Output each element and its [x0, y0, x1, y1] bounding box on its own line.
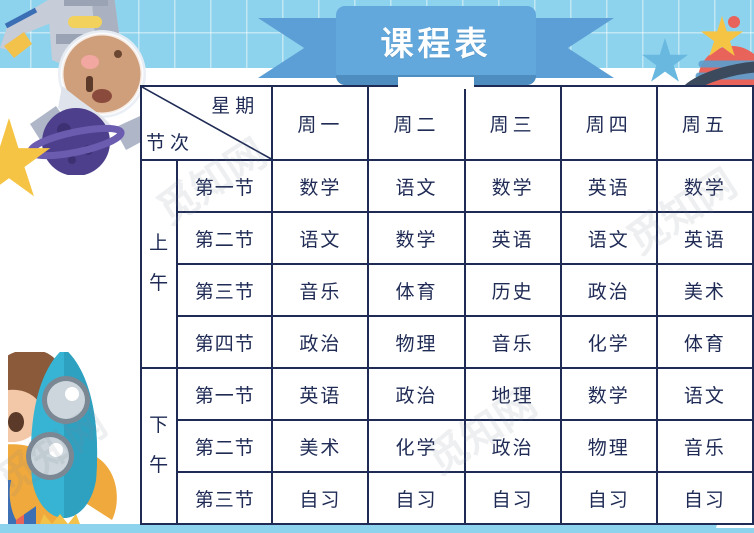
subject-cell[interactable]: 化学 [561, 316, 657, 368]
red-dot-icon [728, 16, 740, 28]
subject-cell[interactable]: 语文 [657, 368, 753, 420]
subject-cell[interactable]: 英语 [657, 212, 753, 264]
subject-cell[interactable]: 语文 [561, 212, 657, 264]
subject-cell[interactable]: 音乐 [272, 264, 368, 316]
period-label: 第四节 [177, 316, 272, 368]
day-header-1: 周一 [272, 86, 368, 160]
page-title: 课程表 [336, 6, 536, 76]
subject-cell[interactable]: 政治 [561, 264, 657, 316]
subject-cell[interactable]: 自习 [368, 472, 464, 524]
period-label: 第二节 [177, 420, 272, 472]
subject-cell[interactable]: 数学 [657, 160, 753, 212]
corner-period-label: 节次 [146, 128, 194, 155]
subject-cell[interactable]: 地理 [465, 368, 561, 420]
table-row: 第二节语文数学英语语文英语 [141, 212, 753, 264]
day-header-3: 周三 [465, 86, 561, 160]
corner-cell: 星期节次 [141, 86, 272, 160]
table-row: 第四节政治物理音乐化学体育 [141, 316, 753, 368]
subject-cell[interactable]: 英语 [272, 368, 368, 420]
class-schedule-table: 星期节次周一周二周三周四周五上午第一节数学语文数学英语数学第二节语文数学英语语文… [140, 85, 754, 525]
subject-cell[interactable]: 历史 [465, 264, 561, 316]
subject-cell[interactable]: 政治 [272, 316, 368, 368]
subject-cell[interactable]: 数学 [465, 160, 561, 212]
subject-cell[interactable]: 物理 [368, 316, 464, 368]
table-row: 上午第一节数学语文数学英语数学 [141, 160, 753, 212]
subject-cell[interactable]: 体育 [368, 264, 464, 316]
subject-cell[interactable]: 美术 [272, 420, 368, 472]
subject-cell[interactable]: 数学 [272, 160, 368, 212]
period-label: 第二节 [177, 212, 272, 264]
subject-cell[interactable]: 语文 [368, 160, 464, 212]
period-label: 第一节 [177, 160, 272, 212]
day-header-5: 周五 [657, 86, 753, 160]
subject-cell[interactable]: 政治 [368, 368, 464, 420]
corner-week-label: 星期 [211, 91, 259, 118]
rocket-illustration [8, 352, 138, 524]
subject-cell[interactable]: 数学 [561, 368, 657, 420]
subject-cell[interactable]: 英语 [561, 160, 657, 212]
day-header-4: 周四 [561, 86, 657, 160]
subject-cell[interactable]: 体育 [657, 316, 753, 368]
subject-cell[interactable]: 美术 [657, 264, 753, 316]
period-label: 第三节 [177, 264, 272, 316]
table-row: 第三节自习自习自习自习自习 [141, 472, 753, 524]
period-label: 第一节 [177, 368, 272, 420]
subject-cell[interactable]: 自习 [561, 472, 657, 524]
day-header-2: 周二 [368, 86, 464, 160]
subject-cell[interactable]: 自习 [657, 472, 753, 524]
period-label: 第三节 [177, 472, 272, 524]
subject-cell[interactable]: 语文 [272, 212, 368, 264]
title-ribbon: 课程表 [258, 18, 614, 78]
subject-cell[interactable]: 自习 [465, 472, 561, 524]
subject-cell[interactable]: 化学 [368, 420, 464, 472]
subject-cell[interactable]: 音乐 [465, 316, 561, 368]
section-label-2: 下午 [141, 368, 177, 524]
section-label-1: 上午 [141, 160, 177, 368]
subject-cell[interactable]: 自习 [272, 472, 368, 524]
table-header-row: 星期节次周一周二周三周四周五 [141, 86, 753, 160]
table-row: 第二节美术化学政治物理音乐 [141, 420, 753, 472]
subject-cell[interactable]: 英语 [465, 212, 561, 264]
table-row: 第三节音乐体育历史政治美术 [141, 264, 753, 316]
subject-cell[interactable]: 数学 [368, 212, 464, 264]
subject-cell[interactable]: 政治 [465, 420, 561, 472]
subject-cell[interactable]: 物理 [561, 420, 657, 472]
subject-cell[interactable]: 音乐 [657, 420, 753, 472]
table-row: 下午第一节英语政治地理数学语文 [141, 368, 753, 420]
title-plaque-notch [398, 77, 474, 89]
